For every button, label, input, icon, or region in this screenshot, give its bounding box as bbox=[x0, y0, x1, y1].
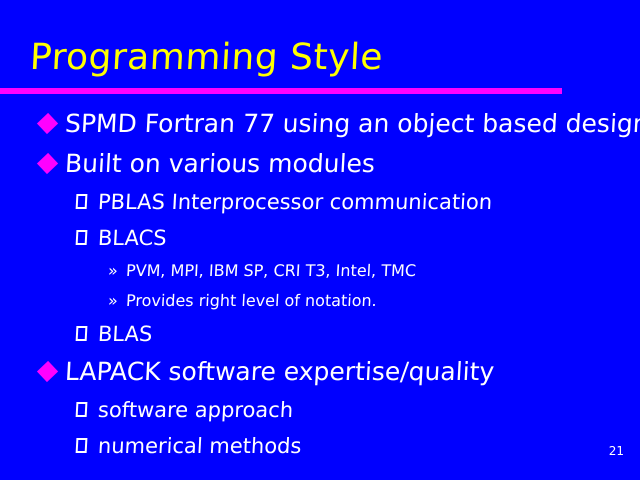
bullet-item-level-2: PBLAS Interprocessor communication bbox=[0, 184, 640, 220]
bullet-text: BLAS bbox=[97, 316, 153, 352]
diamond-bullet-icon bbox=[37, 153, 58, 174]
chevron-bullet-icon: » bbox=[107, 286, 125, 316]
diamond-bullet-icon bbox=[37, 361, 58, 382]
bullet-item-level-2: BLACS bbox=[0, 220, 640, 256]
slide-title-block: Programming Style bbox=[0, 36, 640, 98]
bullet-text: SPMD Fortran 77 using an object based de… bbox=[64, 104, 640, 144]
presentation-slide: Programming Style SPMD Fortran 77 using … bbox=[0, 0, 640, 480]
bullet-item-level-1: SPMD Fortran 77 using an object based de… bbox=[0, 104, 640, 144]
bullet-text: Provides right level of notation. bbox=[125, 286, 377, 316]
bullet-item-level-2: software approach bbox=[0, 392, 640, 428]
square-bullet-icon bbox=[76, 438, 88, 453]
square-bullet-icon bbox=[76, 402, 88, 417]
bullet-item-level-1: LAPACK software expertise/quality bbox=[0, 352, 640, 392]
square-bullet-icon bbox=[76, 326, 88, 341]
square-bullet-icon bbox=[76, 194, 88, 209]
bullet-text: BLACS bbox=[97, 220, 167, 256]
bullet-item-level-1: Built on various modules bbox=[0, 144, 640, 184]
bullet-text: software approach bbox=[97, 392, 294, 428]
bullet-item-level-2: numerical methods bbox=[0, 428, 640, 464]
bullet-item-level-3: »Provides right level of notation. bbox=[0, 286, 640, 316]
bullet-text: Built on various modules bbox=[64, 144, 376, 184]
square-bullet-icon bbox=[76, 230, 88, 245]
bullet-text: PBLAS Interprocessor communication bbox=[97, 184, 493, 220]
bullet-text: PVM, MPI, IBM SP, CRI T3, Intel, TMC bbox=[125, 256, 417, 286]
title-underline-rule bbox=[0, 88, 562, 94]
bullet-item-level-3: »PVM, MPI, IBM SP, CRI T3, Intel, TMC bbox=[0, 256, 640, 286]
bullet-text: numerical methods bbox=[97, 428, 302, 464]
slide-page-number: 21 bbox=[609, 444, 624, 458]
chevron-bullet-icon: » bbox=[107, 256, 125, 286]
bullet-item-level-2: BLAS bbox=[0, 316, 640, 352]
bullet-text: LAPACK software expertise/quality bbox=[64, 352, 495, 392]
page-title: Programming Style bbox=[29, 36, 384, 80]
diamond-bullet-icon bbox=[37, 113, 58, 134]
slide-body-bullet-list: SPMD Fortran 77 using an object based de… bbox=[0, 104, 640, 464]
